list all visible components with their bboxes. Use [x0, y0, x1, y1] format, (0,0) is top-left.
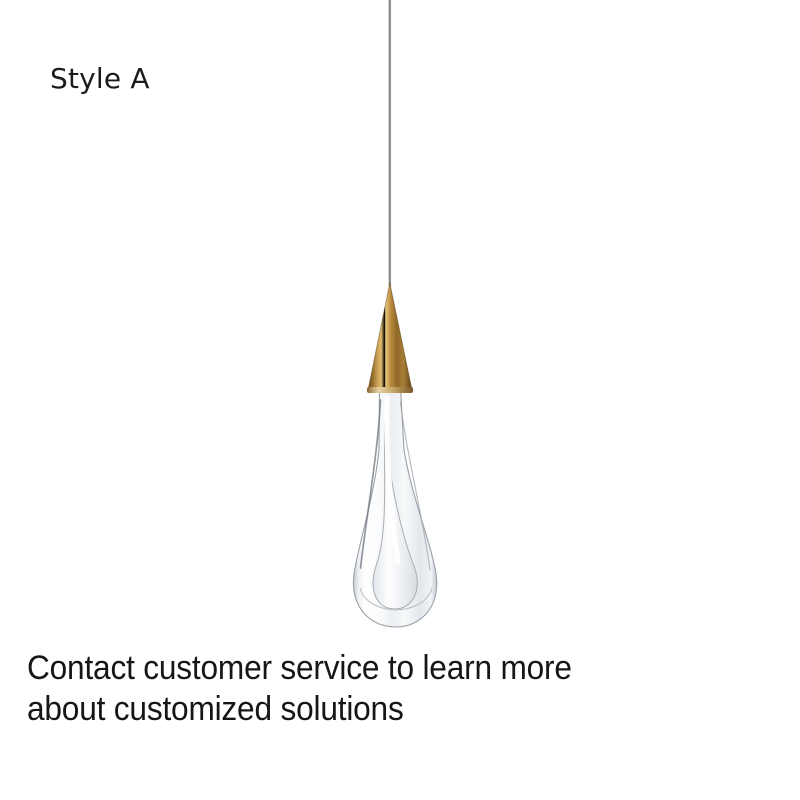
- caption-line-1: Contact customer service to learn more: [27, 648, 715, 689]
- caption-line-2: about customized solutions: [27, 689, 715, 730]
- caption-text: Contact customer service to learn more a…: [27, 648, 715, 730]
- product-figure: Style A: [0, 0, 800, 800]
- gold-cone-cap: [368, 283, 412, 390]
- suspension-cable: [389, 0, 392, 287]
- gold-cone-base-rim: [367, 387, 413, 393]
